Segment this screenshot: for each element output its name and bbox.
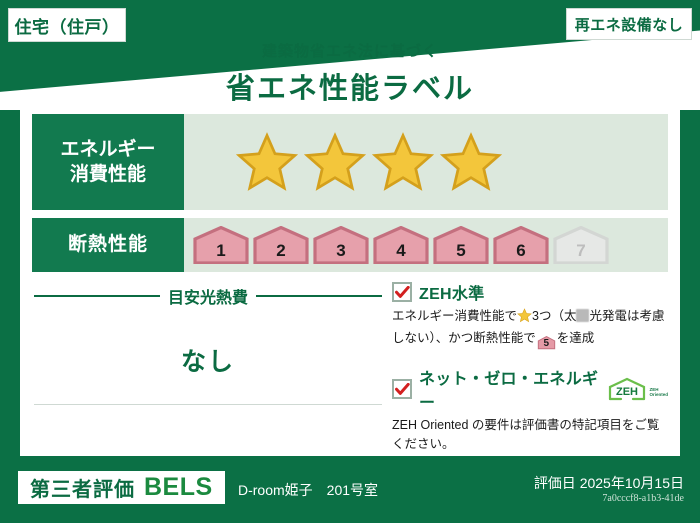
star-icon [517, 308, 532, 329]
insulation-level-chip: 2 [252, 226, 310, 264]
svg-text:ZEH: ZEH [616, 386, 638, 398]
zeh-logo: ZEH ZEH Oriented [607, 377, 668, 401]
desc-part-1: エネルギー消費性能で [392, 309, 517, 323]
star-filled-icon [304, 132, 366, 192]
insulation-level-value: 2 [276, 241, 285, 264]
net-zero-title-row: ネット・ゼロ・エネルギー ZEH ZEH Oriented [392, 365, 668, 413]
page-title: 省エネ性能ラベル [0, 65, 700, 107]
bels-certification-badge: 第三者評価 BELS [18, 471, 225, 504]
energy-star-rating [184, 114, 668, 210]
insulation-performance-row: 断熱性能 1234567 [32, 218, 668, 272]
insulation-level-value: 6 [516, 241, 525, 264]
label-footer: 第三者評価 BELS D-room姫子 201号室 評価日 2025年10月15… [0, 461, 700, 523]
main-panel: エネルギー 消費性能 断熱性能 1234567 目安光熱費 なし [20, 104, 680, 456]
insulation-performance-label: 断熱性能 [32, 218, 184, 272]
desc-part-4: を達成 [557, 331, 595, 345]
rule-right [256, 295, 382, 297]
evaluation-date: 評価日 2025年10月15日 [534, 473, 684, 493]
net-zero-title: ネット・ゼロ・エネルギー [419, 365, 598, 413]
utility-cost-heading: 目安光熱費 [34, 284, 382, 308]
badge-building-type: 住宅（住戸） [8, 8, 126, 42]
zeh-standard-title-row: ZEH水準 [392, 280, 668, 304]
third-party-eval-label: 第三者評価 [30, 473, 135, 502]
energy-performance-label: エネルギー 消費性能 [32, 114, 184, 210]
zeh-logo-subtext: ZEH Oriented [649, 388, 668, 401]
redacted-character [576, 309, 589, 322]
title-subtitle: 建築物省エネ法に基づく [0, 40, 700, 61]
energy-label-line-2: 消費性能 [70, 162, 146, 187]
inline-insulation-chip: 5 [537, 334, 556, 351]
evaluation-id: 7a0cccf8-a1b3-41de [602, 493, 684, 504]
badge-renewable-energy: 再エネ設備なし [566, 8, 692, 40]
utility-cost-value: なし [34, 342, 382, 378]
insulation-level-value: 1 [216, 241, 225, 264]
insulation-level-chip: 3 [312, 226, 370, 264]
checkbox-checked-icon [392, 379, 412, 399]
insulation-level-chip: 5 [432, 226, 490, 264]
label-title-block: 建築物省エネ法に基づく 省エネ性能ラベル [0, 40, 700, 107]
insulation-level-scale: 1234567 [184, 218, 668, 272]
energy-label-line-1: エネルギー [60, 137, 155, 162]
certification-checklist: ZEH水準 エネルギー消費性能で3つ（太光発電は考慮しない）、かつ断熱性能で5を… [392, 280, 668, 454]
insulation-level-value: 3 [336, 241, 345, 264]
bels-label: BELS [144, 473, 213, 502]
net-zero-description: ZEH Oriented の要件は評価書の特記項目をご覧ください。 [392, 416, 668, 454]
evaluation-date-value: 2025年10月15日 [580, 475, 684, 491]
insulation-level-chip: 6 [492, 226, 550, 264]
insulation-level-value: 7 [576, 241, 585, 264]
checklist-item-zeh-standard: ZEH水準 エネルギー消費性能で3つ（太光発電は考慮しない）、かつ断熱性能で5を… [392, 280, 668, 351]
checkbox-checked-icon [392, 282, 412, 302]
insulation-level-chip: 1 [192, 226, 250, 264]
desc-part-2: 3つ（太 [532, 309, 576, 323]
energy-performance-row: エネルギー 消費性能 [32, 114, 668, 210]
star-filled-icon [440, 132, 502, 192]
property-unit-name: D-room姫子 201号室 [238, 480, 378, 500]
zeh-standard-title: ZEH水準 [419, 280, 485, 304]
evaluation-date-label: 評価日 [534, 475, 576, 491]
zeh-sub-line-2: Oriented [649, 392, 668, 397]
insulation-level-chip: 7 [552, 226, 610, 264]
insulation-level-chip: 4 [372, 226, 430, 264]
zeh-standard-description: エネルギー消費性能で3つ（太光発電は考慮しない）、かつ断熱性能で5を達成 [392, 307, 668, 351]
insulation-level-value: 4 [396, 241, 405, 264]
checklist-item-net-zero-energy: ネット・ゼロ・エネルギー ZEH ZEH Oriented [392, 365, 668, 454]
star-filled-icon [372, 132, 434, 192]
rule-left [34, 295, 160, 297]
energy-performance-label: 住宅（住戸） 再エネ設備なし 建築物省エネ法に基づく 省エネ性能ラベル エネルギ… [0, 0, 700, 523]
utility-cost-block: 目安光熱費 なし [34, 284, 382, 378]
utility-cost-heading-text: 目安光熱費 [168, 284, 248, 308]
insulation-level-value: 5 [456, 241, 465, 264]
star-filled-icon [236, 132, 298, 192]
inline-chip-value: 5 [537, 334, 556, 354]
utility-cost-divider [34, 404, 382, 405]
